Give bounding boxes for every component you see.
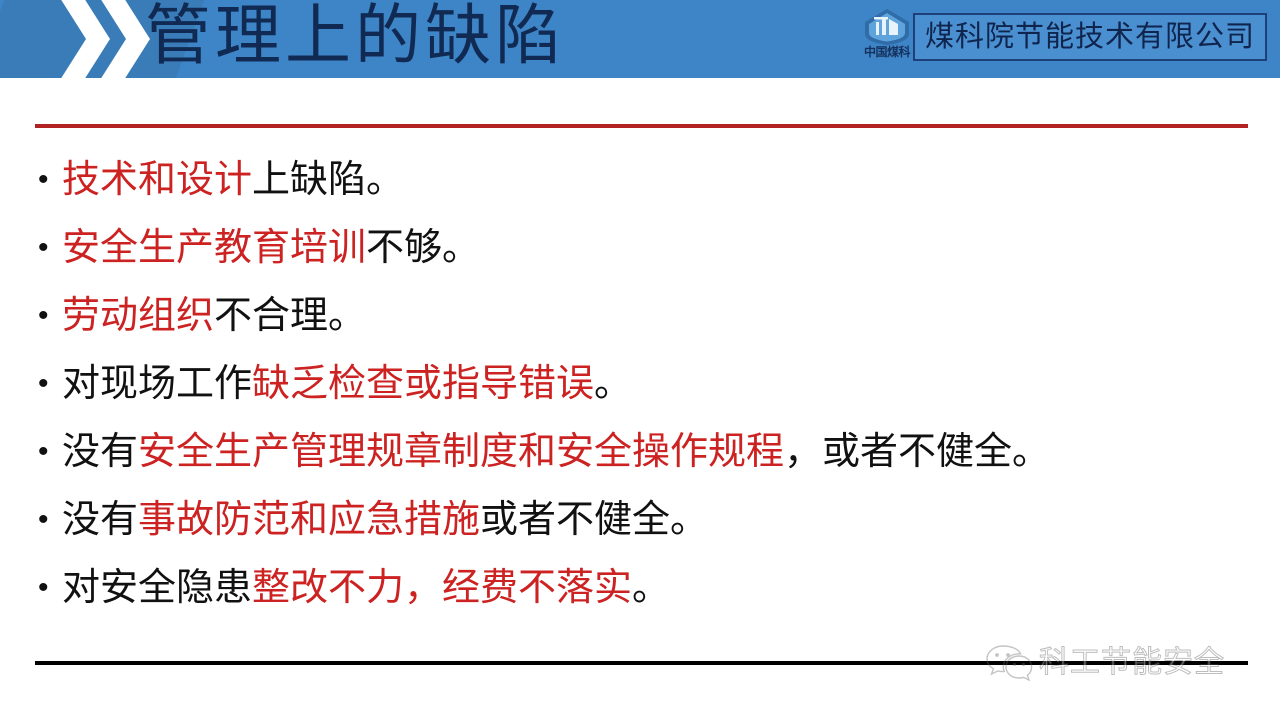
- list-item: •安全生产教育培训不够。: [38, 220, 1248, 276]
- text-segment: 没有: [62, 499, 138, 541]
- list-item: •技术和设计上缺陷。: [38, 152, 1248, 208]
- text-segment: 事故防范和应急措施: [138, 499, 480, 541]
- text-segment: 不够。: [366, 227, 480, 269]
- logo-caption: 中国煤科: [852, 45, 922, 59]
- text-segment: 。: [594, 363, 632, 405]
- slide-header-bar: 管理上的缺陷 中国煤科 煤科院节能技术有限公司: [0, 0, 1280, 78]
- watermark-label: 科工节能安全: [1039, 643, 1225, 683]
- text-segment: 没有: [62, 431, 138, 473]
- bullet-marker-icon: •: [38, 220, 62, 276]
- list-item-text: 对现场工作缺乏检查或指导错误。: [62, 356, 1248, 412]
- list-item: •没有事故防范和应急措施或者不健全。: [38, 492, 1248, 548]
- list-item: •劳动组织不合理。: [38, 288, 1248, 344]
- list-item-text: 劳动组织不合理。: [62, 288, 1248, 344]
- text-segment: 整改不力，经费不落实: [252, 567, 632, 609]
- bullet-marker-icon: •: [38, 560, 62, 616]
- text-segment: 。: [632, 567, 670, 609]
- bullet-marker-icon: •: [38, 492, 62, 548]
- company-name-box: 煤科院节能技术有限公司: [913, 13, 1267, 61]
- text-segment: 不合理。: [214, 295, 366, 337]
- bullet-marker-icon: •: [38, 288, 62, 344]
- list-item-text: 没有安全生产管理规章制度和安全操作规程，或者不健全。: [62, 424, 1248, 480]
- list-item: •对安全隐患整改不力，经费不落实。: [38, 560, 1248, 616]
- bullet-list: •技术和设计上缺陷。•安全生产教育培训不够。•劳动组织不合理。•对现场工作缺乏检…: [38, 152, 1248, 628]
- text-segment: 对安全隐患: [62, 567, 252, 609]
- text-segment: 上缺陷。: [252, 159, 404, 201]
- page-title: 管理上的缺陷: [145, 0, 565, 78]
- company-logo: 中国煤科: [852, 8, 922, 70]
- text-segment: 安全生产教育培训: [62, 227, 366, 269]
- text-segment: 缺乏检查或指导错误: [252, 363, 594, 405]
- company-name-label: 煤科院节能技术有限公司: [925, 20, 1255, 54]
- list-item: •对现场工作缺乏检查或指导错误。: [38, 356, 1248, 412]
- text-segment: 或者不健全。: [480, 499, 708, 541]
- china-coal-emblem-icon: [862, 8, 912, 46]
- red-divider: [35, 124, 1248, 128]
- bullet-marker-icon: •: [38, 356, 62, 412]
- list-item-text: 安全生产教育培训不够。: [62, 220, 1248, 276]
- list-item: •没有安全生产管理规章制度和安全操作规程，或者不健全。: [38, 424, 1248, 480]
- list-item-text: 技术和设计上缺陷。: [62, 152, 1248, 208]
- text-segment: 技术和设计: [62, 159, 252, 201]
- text-segment: ，或者不健全。: [784, 431, 1050, 473]
- list-item-text: 没有事故防范和应急措施或者不健全。: [62, 492, 1248, 548]
- text-segment: 对现场工作: [62, 363, 252, 405]
- footer-watermark: 科工节能安全: [985, 636, 1225, 690]
- list-item-text: 对安全隐患整改不力，经费不落实。: [62, 560, 1248, 616]
- text-segment: 劳动组织: [62, 295, 214, 337]
- bullet-marker-icon: •: [38, 424, 62, 480]
- bullet-marker-icon: •: [38, 152, 62, 208]
- text-segment: 安全生产管理规章制度和安全操作规程: [138, 431, 784, 473]
- wechat-icon: [985, 643, 1033, 683]
